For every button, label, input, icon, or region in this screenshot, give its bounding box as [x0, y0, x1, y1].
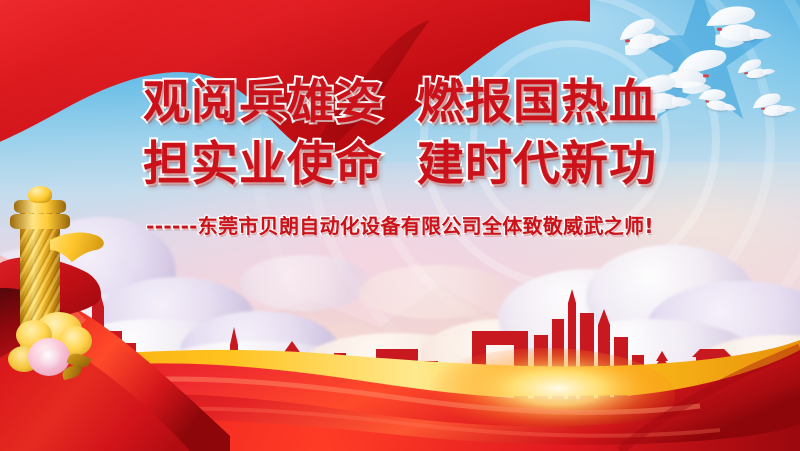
poster-subtitle: ------东莞市贝朗自动化设备有限公司全体致敬威武之师! [0, 213, 800, 239]
title-line-2: 担实业使命建时代新功 [0, 134, 800, 196]
title-line-1-left: 观阅兵雄姿 [143, 75, 383, 130]
title-line-1: 观阅兵雄姿燃报国热血 [0, 72, 800, 134]
poster-text-block: 观阅兵雄姿燃报国热血 担实业使命建时代新功 ------东莞市贝朗自动化设备有限… [0, 72, 800, 239]
patriotic-banner-poster: 观阅兵雄姿燃报国热血 担实业使命建时代新功 ------东莞市贝朗自动化设备有限… [0, 0, 800, 451]
peony-flowers-icon [6, 310, 96, 388]
title-line-1-right: 燃报国热血 [417, 75, 657, 130]
title-line-2-right: 建时代新功 [417, 137, 657, 192]
title-line-2-left: 担实业使命 [143, 137, 383, 192]
